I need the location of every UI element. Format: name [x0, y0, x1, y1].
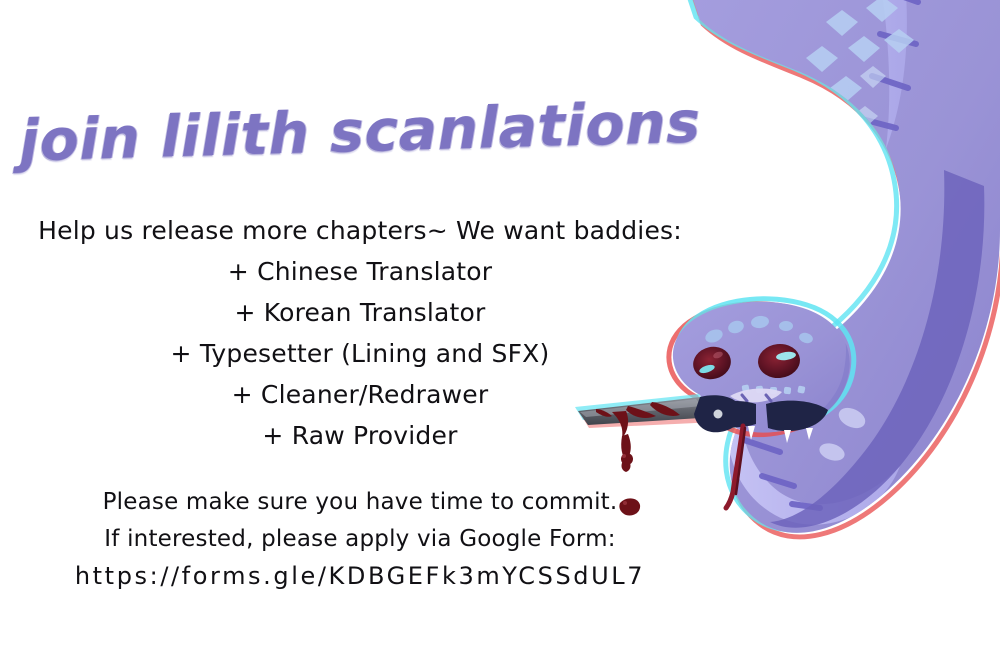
intro-block: Help us release more chapters~ We want b…	[0, 210, 720, 456]
text-content: join lilith scanlations Help us release …	[0, 0, 720, 664]
role-item-typesetter: + Typesetter (Lining and SFX)	[0, 333, 720, 374]
commit-note: Please make sure you have time to commit…	[0, 484, 720, 521]
google-form-url[interactable]: https://forms.gle/KDBGEFk3mYCSSdUL7	[0, 558, 720, 595]
snake-tongue	[726, 426, 743, 508]
page-title: join lilith scanlations	[0, 94, 721, 171]
snake-body	[690, 0, 1000, 533]
poster-canvas: join lilith scanlations Help us release …	[0, 0, 1000, 664]
footer-block: Please make sure you have time to commit…	[0, 484, 720, 595]
apply-note: If interested, please apply via Google F…	[0, 521, 720, 558]
scale-pattern	[778, 0, 914, 304]
role-item-korean-translator: + Korean Translator	[0, 292, 720, 333]
role-item-raw-provider: + Raw Provider	[0, 415, 720, 456]
role-item-cleaner-redrawer: + Cleaner/Redrawer	[0, 374, 720, 415]
intro-heading: Help us release more chapters~ We want b…	[0, 210, 720, 251]
role-item-chinese-translator: + Chinese Translator	[0, 251, 720, 292]
